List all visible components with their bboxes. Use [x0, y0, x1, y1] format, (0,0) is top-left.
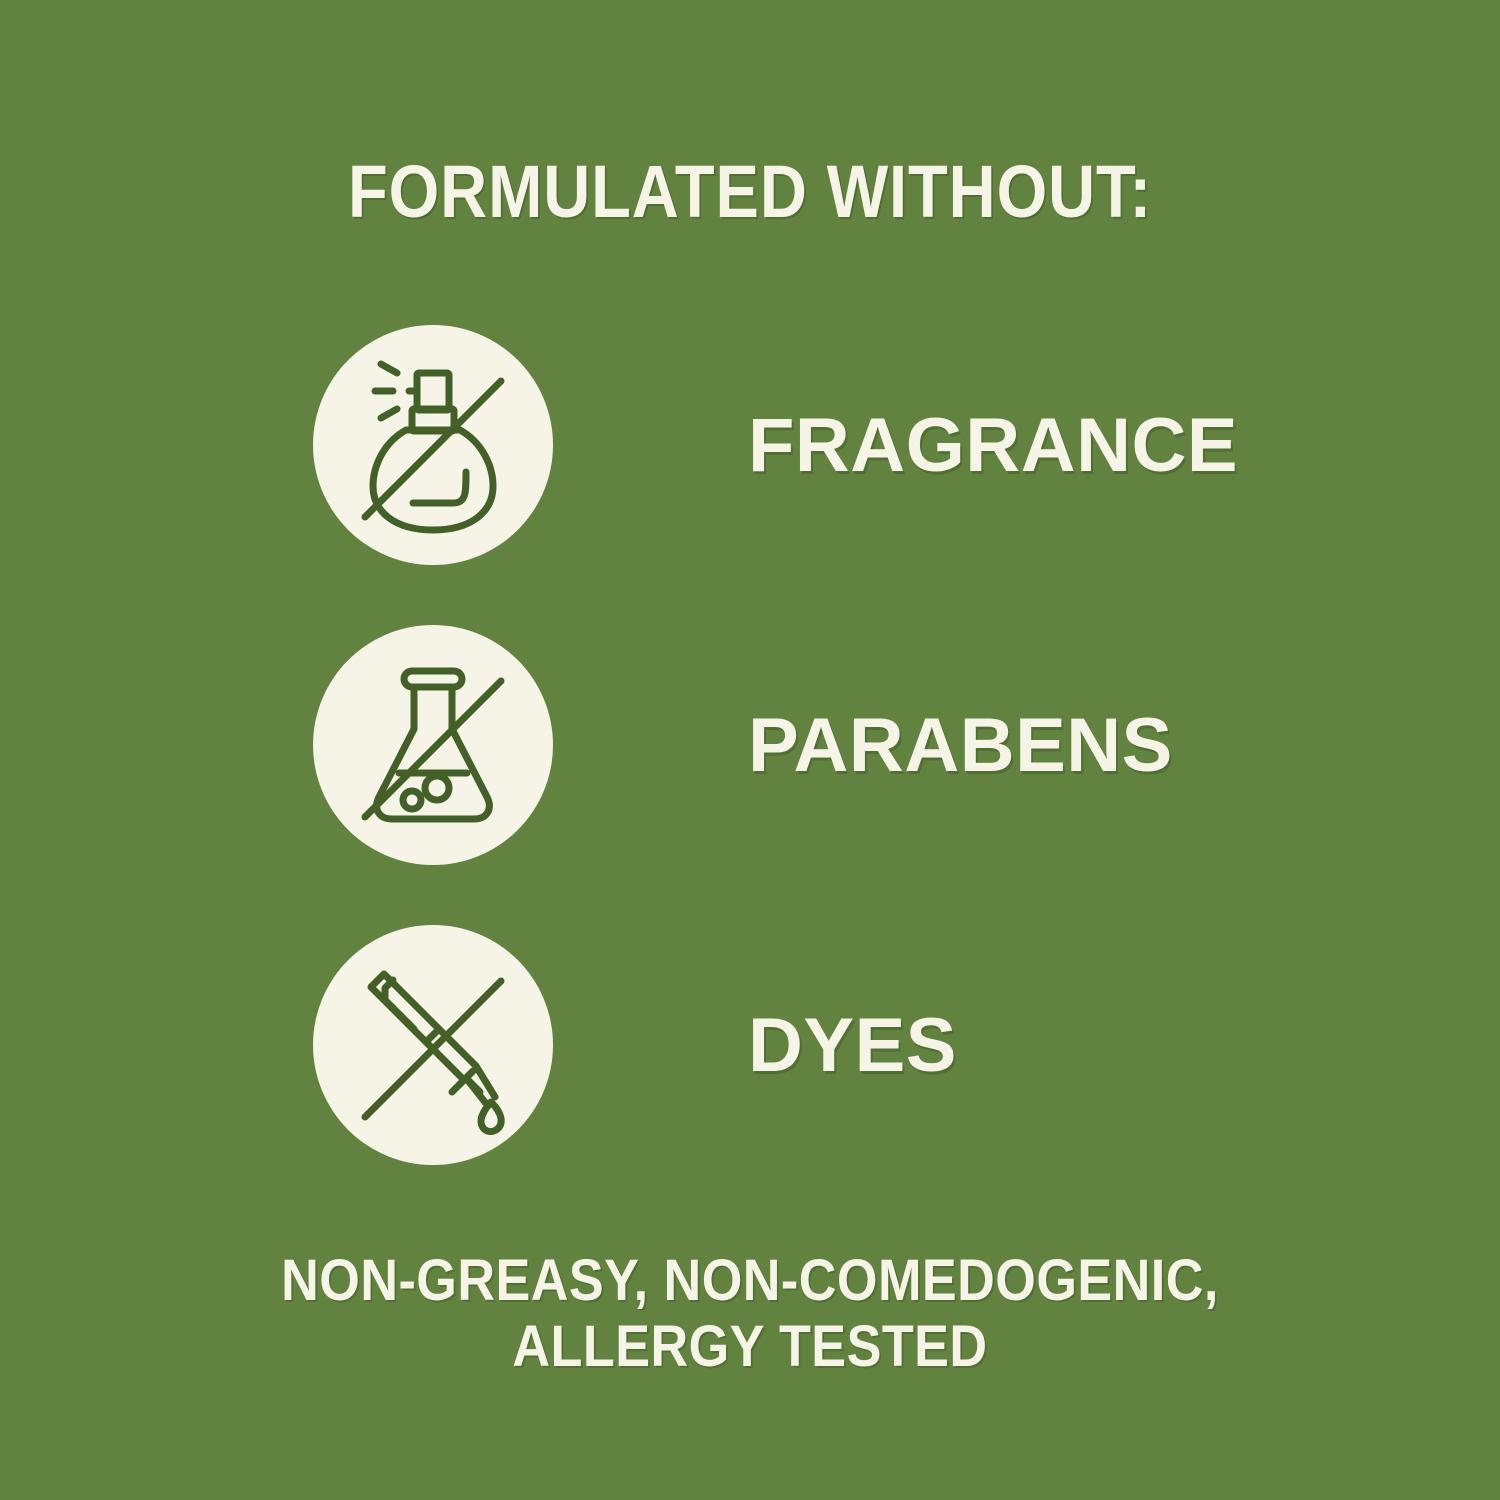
- no-fragrance-icon: [313, 325, 553, 565]
- no-fragrance-badge: [313, 325, 553, 565]
- no-dyes-dropper-icon: [313, 925, 553, 1165]
- footer-line-1: NON-GREASY, NON-COMEDOGENIC,: [75, 1248, 1425, 1314]
- no-parabens-flask-icon: [313, 625, 553, 865]
- footer-line-2: ALLERGY TESTED: [75, 1314, 1425, 1380]
- claim-row-fragrance: FRAGRANCE: [0, 325, 1500, 565]
- no-dyes-badge: [313, 925, 553, 1165]
- no-parabens-badge: [313, 625, 553, 865]
- claim-label-dyes: DYES: [748, 925, 957, 1165]
- claim-label-fragrance: FRAGRANCE: [748, 325, 1238, 565]
- footer-claims: NON-GREASY, NON-COMEDOGENIC, ALLERGY TES…: [75, 1248, 1425, 1380]
- claim-row-dyes: DYES: [0, 925, 1500, 1165]
- claim-row-parabens: PARABENS: [0, 625, 1500, 865]
- claim-label-parabens: PARABENS: [748, 625, 1173, 865]
- page-title: FORMULATED WITHOUT:: [90, 152, 1410, 232]
- claims-list: FRAGRANCE: [0, 325, 1500, 1225]
- formulated-without-panel: FORMULATED WITHOUT:: [0, 0, 1500, 1500]
